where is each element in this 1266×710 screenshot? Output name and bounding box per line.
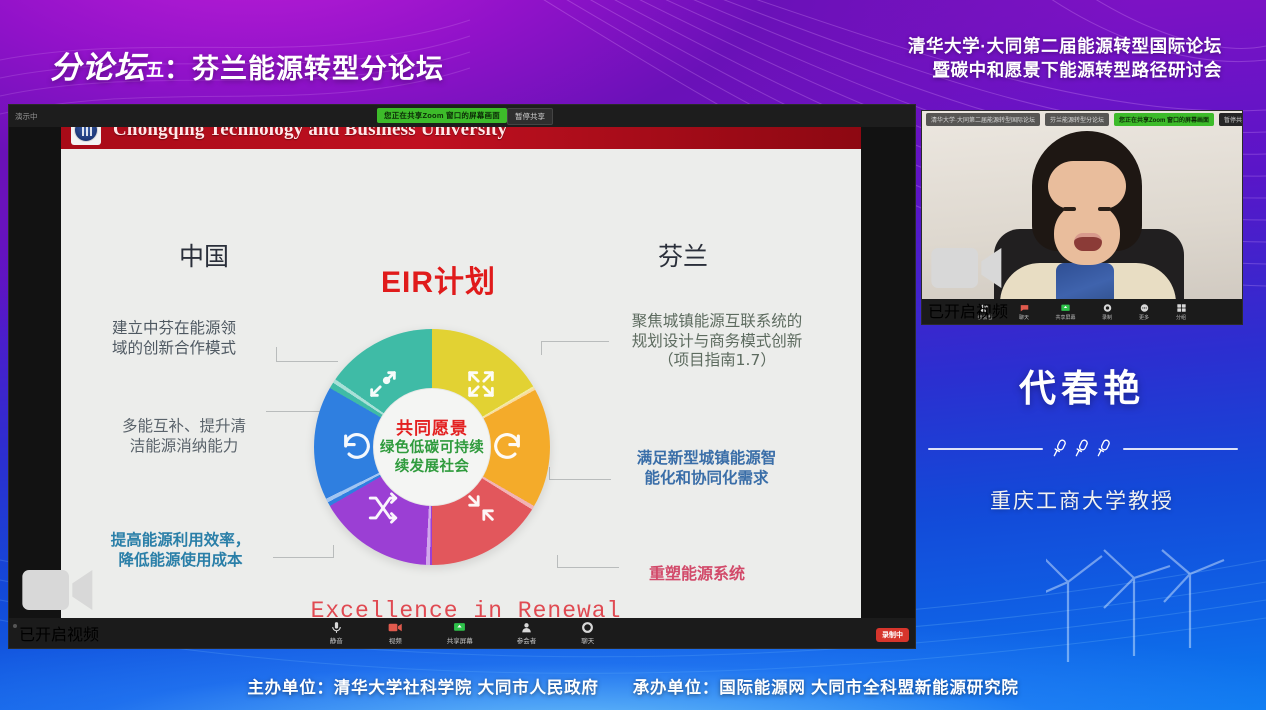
center-vision-line1: 绿色低碳可持续 xyxy=(380,440,484,456)
share-screen-icon xyxy=(452,621,467,634)
speaker-divider xyxy=(928,438,1238,460)
zoom-control-bar[interactable]: 已开启视频 静音 视频 共享屏幕 参会者 聊天 录制中 xyxy=(9,618,915,648)
video-chat-label: 聊天 xyxy=(1019,314,1029,321)
zoom-chat-button[interactable]: 聊天 xyxy=(580,621,595,645)
footer-credits: 主办单位：清华大学社科学院 大同市人民政府 承办单位：国际能源网 大同市全科盟新… xyxy=(0,674,1266,698)
share-status-label: 演示中 xyxy=(15,111,38,122)
speaker-role: 重庆工商大学教授 xyxy=(921,485,1243,515)
video-chip-left1: 清华大学·大同第二届能源转型国际论坛 xyxy=(926,113,1040,126)
microphone-icon xyxy=(1073,438,1093,460)
screenshot-root: 分论坛五：芬兰能源转型分论坛 清华大学·大同第二届能源转型国际论坛 暨碳中和愿景… xyxy=(0,0,1266,710)
zoom-participants-button[interactable]: 参会者 xyxy=(517,621,537,645)
callout-right-1-line1: 聚焦城镇能源互联系统的 xyxy=(597,312,837,332)
callout-right-3: 重塑能源系统 xyxy=(597,564,797,584)
video-chip-left2: 芬兰能源转型分论坛 xyxy=(1045,113,1109,126)
callout-right-1: 聚焦城镇能源互联系统的 规划设计与商务模式创新 （项目指南1.7） xyxy=(597,312,837,371)
breakout-icon xyxy=(1176,303,1187,313)
video-share-button[interactable]: 共享屏幕 xyxy=(1056,303,1076,321)
video-camera-icon xyxy=(928,238,1008,298)
event-title-block: 清华大学·大同第二届能源转型国际论坛 暨碳中和愿景下能源转型路径研讨会 xyxy=(908,34,1222,82)
eye-right xyxy=(1098,207,1111,211)
footer-organizer: 主办单位：清华大学社科学院 大同市人民政府 xyxy=(247,674,598,698)
video-status-indicator[interactable]: 已开启视频 xyxy=(19,560,99,645)
zoom-video-label: 视频 xyxy=(389,635,402,645)
zoom-participants-label: 参会者 xyxy=(517,635,537,645)
video-status-indicator-2[interactable]: 已开启视频 xyxy=(928,238,1008,322)
video-breakout-label: 分组 xyxy=(1176,314,1186,321)
slide-body: 中国 芬兰 EIR计划 xyxy=(61,149,861,629)
speaker-video-tile[interactable]: 清华大学·大同第二届能源转型国际论坛 芬兰能源转型分论坛 您正在共享Zoom 窗… xyxy=(921,110,1243,325)
refresh-ccw-icon xyxy=(340,429,374,463)
record-icon xyxy=(1102,303,1113,313)
video-share-label: 共享屏幕 xyxy=(1056,314,1076,321)
callout-left-3: 提高能源利用效率， 降低能源使用成本 xyxy=(73,531,288,570)
leader-line-6b xyxy=(557,555,558,568)
speaker-name: 代春艳 xyxy=(921,358,1243,412)
zoom-video-button[interactable]: 视频 xyxy=(388,621,403,645)
center-vision-title: 共同愿景 xyxy=(396,419,468,438)
forum-title-prefix: 分论坛 xyxy=(50,50,146,85)
callout-right-1-line3: （项目指南1.7） xyxy=(597,351,837,371)
video-status-label-2: 已开启视频 xyxy=(928,298,1008,322)
callout-left-2: 多能互补、提升清 洁能源消纳能力 xyxy=(89,417,279,456)
event-title-line1: 清华大学·大同第二届能源转型国际论坛 xyxy=(908,34,1222,58)
video-record-label: 录制 xyxy=(1102,314,1112,321)
chat-icon xyxy=(1019,303,1030,313)
callout-left-3-line2: 降低能源使用成本 xyxy=(73,551,288,571)
footer-coorganizer: 承办单位：国际能源网 大同市全科盟新能源研究院 xyxy=(633,674,1019,698)
callout-left-1-line1: 建立中芬在能源领 xyxy=(79,319,269,339)
microphone-decoration-icons xyxy=(1051,438,1115,460)
video-pause-share-button[interactable]: 暂停共享 xyxy=(1219,113,1243,126)
video-record-button[interactable]: 录制 xyxy=(1102,303,1113,321)
callout-right-2-line2: 能化和协同化需求 xyxy=(599,469,814,489)
eye-left xyxy=(1063,207,1076,211)
callout-left-2-line2: 洁能源消纳能力 xyxy=(89,437,279,457)
callout-right-2-line1: 满足新型城镇能源智 xyxy=(599,449,814,469)
callout-right-1-line2: 规划设计与商务模式创新 xyxy=(597,332,837,352)
shuffle-icon xyxy=(366,491,400,525)
recording-badge: 录制中 xyxy=(876,628,909,642)
divider-rule-right xyxy=(1123,448,1238,450)
expand-diagonal-icon xyxy=(366,367,400,401)
video-status-label: 已开启视频 xyxy=(19,621,99,645)
video-topbar: 清华大学·大同第二届能源转型国际论坛 芬兰能源转型分论坛 您正在共享Zoom 窗… xyxy=(922,111,1242,128)
shared-screen-window[interactable]: 演示中 您正在共享Zoom 窗口的屏幕画面 暂停共享 Chongqing Tec… xyxy=(8,104,916,649)
video-camera-icon xyxy=(388,621,403,634)
donut-center-label: 共同愿景 绿色低碳可持续 续发展社会 xyxy=(373,388,491,506)
plan-title: EIR计划 xyxy=(381,257,496,301)
chat-icon xyxy=(580,621,595,634)
forum-session-title: 分论坛五：芬兰能源转型分论坛 xyxy=(50,42,444,87)
microphone-icon xyxy=(1095,438,1115,460)
video-more-label: 更多 xyxy=(1139,314,1149,321)
mouth-shape xyxy=(1074,233,1102,251)
zoom-mute-button[interactable]: 静音 xyxy=(329,621,344,645)
collapse-arrows-icon xyxy=(464,491,498,525)
event-title-line2: 暨碳中和愿景下能源转型路径研讨会 xyxy=(908,58,1222,82)
divider-rule-left xyxy=(928,448,1043,450)
zoom-share-button[interactable]: 共享屏幕 xyxy=(447,621,473,645)
video-breakout-button[interactable]: 分组 xyxy=(1176,303,1187,321)
center-vision-line2: 续发展社会 xyxy=(395,459,470,475)
presentation-slide: Chongqing Technology and Business Univer… xyxy=(61,111,861,629)
forum-title-number: 五 xyxy=(146,60,164,80)
vision-donut-chart: 共同愿景 绿色低碳可持续 续发展社会 xyxy=(314,329,550,565)
video-control-bar[interactable]: 已开启视频 参会者 聊天 共享屏幕 录制 更多 xyxy=(922,299,1242,324)
participants-icon xyxy=(519,621,534,634)
sharing-notice-badge: 您正在共享Zoom 窗口的屏幕画面 xyxy=(377,108,507,123)
label-finland: 芬兰 xyxy=(658,237,708,273)
callout-left-1: 建立中芬在能源领 域的创新合作模式 xyxy=(79,319,269,358)
forum-title-rest: ：芬兰能源转型分论坛 xyxy=(164,54,444,84)
share-topbar: 演示中 您正在共享Zoom 窗口的屏幕画面 暂停共享 xyxy=(9,105,915,127)
microphone-icon xyxy=(329,621,344,634)
expand-four-arrows-icon xyxy=(464,367,498,401)
callout-left-3-line1: 提高能源利用效率， xyxy=(73,531,288,551)
video-more-button[interactable]: 更多 xyxy=(1139,303,1150,321)
callout-left-2-line1: 多能互补、提升清 xyxy=(89,417,279,437)
zoom-share-label: 共享屏幕 xyxy=(447,635,473,645)
video-sharing-badge: 您正在共享Zoom 窗口的屏幕画面 xyxy=(1114,113,1214,126)
more-icon xyxy=(1139,303,1150,313)
video-chat-button[interactable]: 聊天 xyxy=(1019,303,1030,321)
share-screen-icon xyxy=(1060,303,1071,313)
zoom-mute-label: 静音 xyxy=(330,635,343,645)
callout-right-2: 满足新型城镇能源智 能化和协同化需求 xyxy=(599,449,814,488)
pause-share-button[interactable]: 暂停共享 xyxy=(507,108,553,125)
callout-left-1-line2: 域的创新合作模式 xyxy=(79,339,269,359)
status-dot-icon xyxy=(13,624,17,628)
label-china: 中国 xyxy=(179,237,229,273)
leader-line-1b xyxy=(276,347,277,362)
zoom-chat-label: 聊天 xyxy=(581,635,594,645)
video-camera-icon xyxy=(19,560,99,620)
callout-right-3-line1: 重塑能源系统 xyxy=(597,564,797,584)
microphone-icon xyxy=(1051,438,1071,460)
refresh-cw-icon xyxy=(490,429,524,463)
